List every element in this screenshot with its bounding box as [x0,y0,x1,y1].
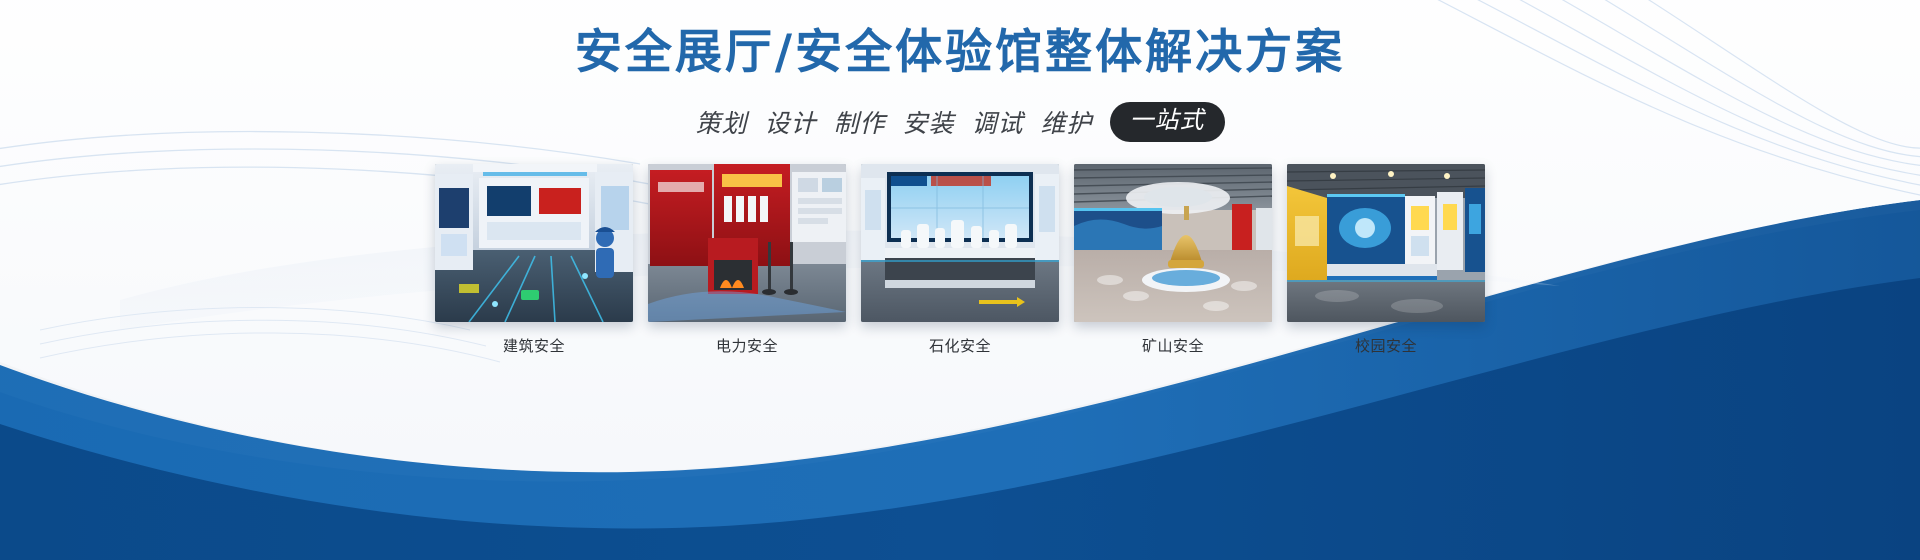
gallery-caption-power: 电力安全 [648,335,846,356]
page-title: 安全展厅/安全体验馆整体解决方案 [0,26,1920,80]
thumbnail-construction-safety-hall[interactable] [435,164,633,322]
gallery-item-mining[interactable]: 矿山安全 [1074,164,1272,356]
service-steps: 策划 设计 制作 安装 调试 维护 一站式 [0,102,1920,142]
gallery-item-construction[interactable]: 建筑安全 [435,164,633,356]
one-stop-badge: 一站式 [1110,102,1225,142]
gallery-caption-petrochemical: 石化安全 [861,335,1059,356]
service-step-3: 制作 [833,104,885,140]
case-gallery: 建筑安全 [0,164,1920,356]
gallery-caption-construction: 建筑安全 [435,335,633,356]
gallery-item-power[interactable]: 电力安全 [648,164,846,356]
thumbnail-mining-safety-hall[interactable] [1074,164,1272,322]
gallery-item-petrochemical[interactable]: 石化安全 [861,164,1059,356]
service-step-2: 设计 [764,104,816,140]
safety-exhibition-banner: 安全展厅/安全体验馆整体解决方案 策划 设计 制作 安装 调试 维护 一站式 [0,0,1920,560]
service-step-5: 调试 [972,104,1024,140]
thumbnail-power-safety-hall[interactable] [648,164,846,322]
gallery-item-campus[interactable]: 校园安全 [1287,164,1485,356]
thumbnail-campus-safety-hall[interactable] [1287,164,1485,322]
thumbnail-petrochemical-safety-hall[interactable] [861,164,1059,322]
banner-content: 安全展厅/安全体验馆整体解决方案 策划 设计 制作 安装 调试 维护 一站式 [0,0,1920,356]
gallery-caption-mining: 矿山安全 [1074,335,1272,356]
gallery-caption-campus: 校园安全 [1287,335,1485,356]
service-step-4: 安装 [903,104,955,140]
service-step-1: 策划 [695,104,747,140]
service-step-6: 维护 [1041,104,1093,140]
